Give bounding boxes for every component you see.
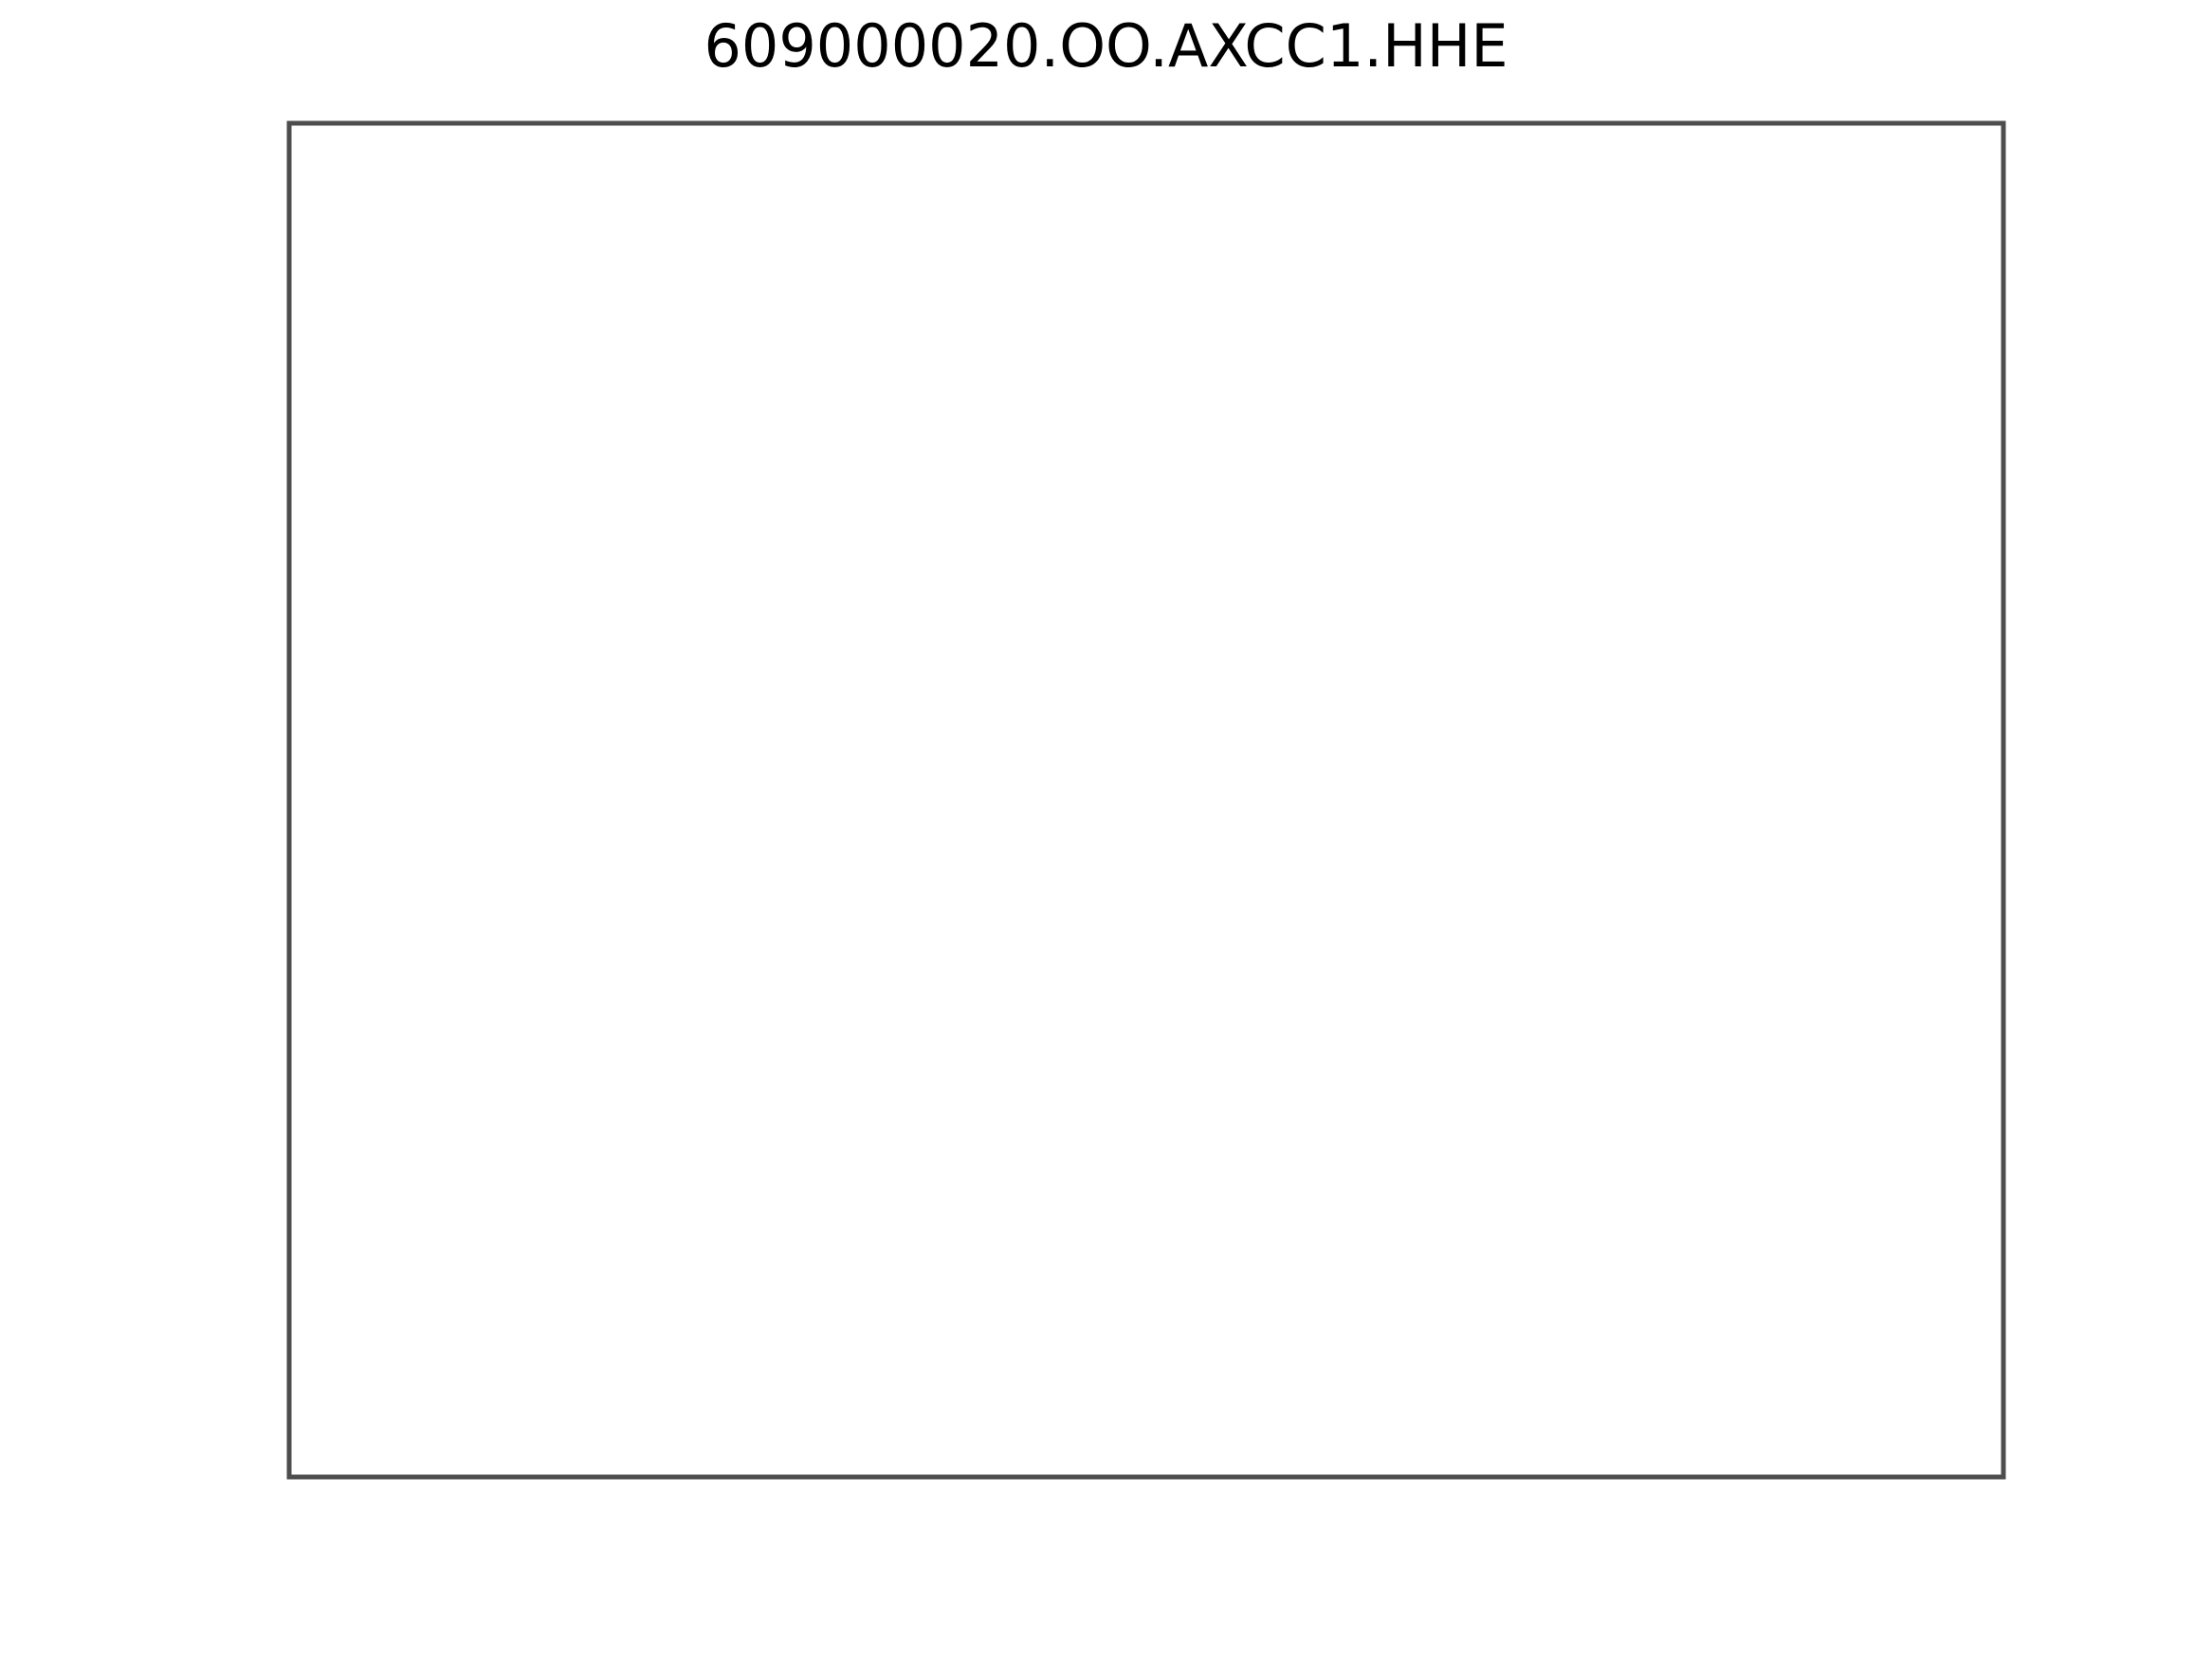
axes-frame [289,123,2003,1477]
figure-root: 609000020.OO.AXCC1.HHE [0,0,2212,1659]
waveform-plot [0,0,2212,1659]
